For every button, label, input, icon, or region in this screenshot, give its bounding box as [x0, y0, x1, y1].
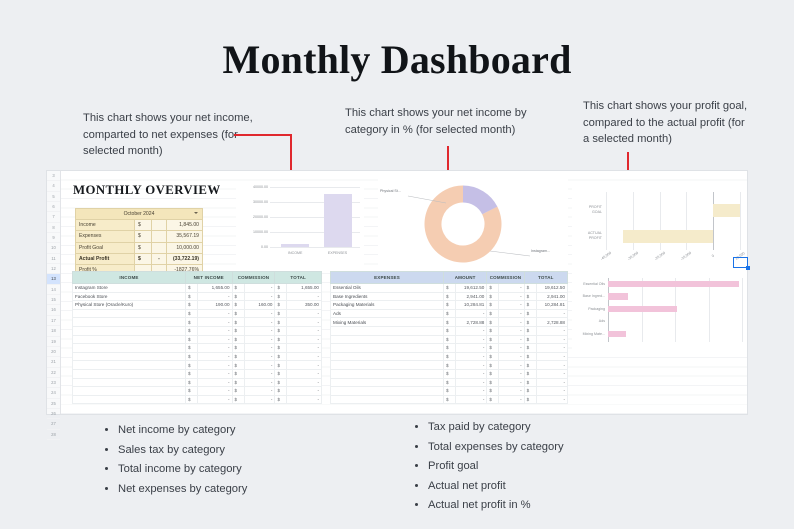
cell-value[interactable]: - — [198, 378, 233, 387]
cell-currency: $ — [232, 284, 244, 293]
cell-value[interactable]: - — [287, 335, 322, 344]
y-axis-category-label: Essential Oils — [572, 282, 605, 286]
x-axis-tick-label: INCOME — [275, 251, 315, 255]
cell-name[interactable]: Base Ingredients — [331, 292, 444, 301]
cell-value[interactable]: 10,284.81 — [536, 301, 567, 310]
cell-currency: $ — [186, 361, 198, 370]
cell-value[interactable]: - — [456, 369, 487, 378]
cell-value[interactable]: - — [499, 335, 524, 344]
cell-value[interactable]: - — [536, 352, 567, 361]
cell-value[interactable]: - — [244, 378, 275, 387]
gridline — [270, 187, 360, 188]
chart-profit-goal-vs-actual[interactable]: -40,000-30,000-20,000-10,000010,000PROFI… — [572, 186, 747, 270]
overview-label: Expenses — [76, 231, 135, 242]
list-item: Actual net profit in % — [428, 496, 564, 516]
cell-name[interactable]: Packaging Materials — [331, 301, 444, 310]
cell-value[interactable]: - — [499, 369, 524, 378]
active-cell-cursor[interactable] — [733, 257, 748, 268]
cell-currency: $ — [524, 318, 536, 327]
cell-currency: $ — [444, 352, 456, 361]
table-row[interactable]: $-$-$- — [331, 361, 568, 370]
cell-value[interactable]: - — [499, 352, 524, 361]
table-row[interactable]: $-$-$- — [331, 352, 568, 361]
bar-actual-profit[interactable] — [623, 230, 713, 243]
row-header-9[interactable]: 9 — [47, 233, 60, 243]
cell-value[interactable]: - — [536, 395, 567, 404]
row-header-27[interactable]: 27 — [47, 419, 60, 429]
cell-currency: $ — [444, 326, 456, 335]
cell-currency: $ — [186, 284, 198, 293]
cell-value[interactable]: 10,284.81 — [456, 301, 487, 310]
cell-value[interactable]: - — [198, 352, 233, 361]
table-row[interactable]: $-$-$- — [331, 344, 568, 353]
cell-currency: $ — [186, 301, 198, 310]
cell-value[interactable]: - — [536, 378, 567, 387]
cell-name[interactable] — [73, 309, 186, 318]
cell-value[interactable]: - — [536, 369, 567, 378]
cell-value[interactable]: - — [244, 318, 275, 327]
cell-value[interactable]: - — [198, 395, 233, 404]
cell-currency: $ — [487, 352, 499, 361]
month-selector-value[interactable]: October 2024 — [124, 211, 155, 217]
overview-row[interactable]: Income$1,845.00 — [76, 220, 203, 231]
cell-currency: $ — [524, 352, 536, 361]
column-header[interactable]: COMMISSION — [232, 272, 275, 284]
cell-value[interactable]: - — [244, 361, 275, 370]
row-header-5[interactable]: 5 — [47, 192, 60, 202]
cell-currency: $ — [186, 335, 198, 344]
cell-value[interactable]: - — [536, 361, 567, 370]
cell-value[interactable]: - — [499, 387, 524, 396]
y-axis-category-label: Base Ingred... — [572, 294, 605, 298]
cell-value[interactable]: 350.00 — [287, 301, 322, 310]
cell-value[interactable]: 19,612.50 — [536, 284, 567, 293]
cell-currency: $ — [275, 369, 287, 378]
section-title-monthly-overview: MONTHLY OVERVIEW — [73, 183, 221, 198]
cell-value[interactable]: - — [198, 387, 233, 396]
cell-currency: $ — [487, 378, 499, 387]
cell-value[interactable]: 1,655.00 — [287, 284, 322, 293]
bar-essential-oils[interactable] — [608, 281, 739, 287]
cell-value[interactable]: - — [287, 378, 322, 387]
table-row[interactable]: $-$-$- — [73, 369, 322, 378]
cell-value[interactable]: - — [499, 326, 524, 335]
cell-currency: $ — [524, 335, 536, 344]
cell-value[interactable]: - — [198, 344, 233, 353]
cell-value[interactable]: 2,728.88 — [456, 318, 487, 327]
cell-name[interactable] — [73, 378, 186, 387]
cell-value[interactable]: - — [499, 378, 524, 387]
list-item: Actual net profit — [428, 477, 564, 497]
cell-value[interactable]: - — [287, 352, 322, 361]
table-row[interactable]: Physical Store (Oracle/Kuro)$190.00$160.… — [73, 301, 322, 310]
cell-name[interactable] — [73, 387, 186, 396]
y-axis-category-label: Ads — [572, 319, 605, 323]
row-header-28[interactable]: 28 — [47, 430, 60, 440]
cell-value[interactable]: - — [536, 387, 567, 396]
overview-label: Actual Profit — [76, 253, 135, 264]
cell-name[interactable] — [331, 352, 444, 361]
row-header-17[interactable]: 17 — [47, 316, 60, 326]
annotation-net-income-by-category: This chart shows your net income by cate… — [345, 105, 550, 138]
cell-currency: $ — [232, 301, 244, 310]
cell-currency: $ — [186, 309, 198, 318]
cell-value[interactable]: - — [536, 309, 567, 318]
cell-value[interactable]: - — [287, 326, 322, 335]
row-header-4[interactable]: 4 — [47, 181, 60, 191]
table-header-row: INCOMENET INCOMECOMMISSIONTOTAL — [73, 272, 322, 284]
row-header-20[interactable]: 20 — [47, 347, 60, 357]
cell-currency: $ — [444, 301, 456, 310]
cell-currency: $ — [444, 344, 456, 353]
row-header-19[interactable]: 19 — [47, 337, 60, 347]
cell-name[interactable] — [331, 326, 444, 335]
cell-currency: $ — [444, 361, 456, 370]
cell-value[interactable]: - — [198, 309, 233, 318]
cell-value[interactable]: - — [287, 292, 322, 301]
gridline — [740, 192, 741, 250]
cell-value[interactable]: 1,655.00 — [198, 284, 233, 293]
cell-value[interactable]: - — [244, 352, 275, 361]
cell-currency: $ — [487, 292, 499, 301]
cell-value[interactable]: - — [244, 395, 275, 404]
bar-income[interactable] — [281, 244, 309, 247]
table-row[interactable]: $-$-$- — [331, 387, 568, 396]
cell-name[interactable] — [331, 335, 444, 344]
column-header[interactable]: TOTAL — [524, 272, 567, 284]
list-item: Profit goal — [428, 457, 564, 477]
row-header-8[interactable]: 8 — [47, 223, 60, 233]
cell-value[interactable]: - — [244, 292, 275, 301]
cell-name[interactable] — [331, 378, 444, 387]
table-row[interactable]: Ads$-$-$- — [331, 309, 568, 318]
y-axis-tick-label: 30000.00 — [238, 200, 268, 204]
row-header-24[interactable]: 24 — [47, 388, 60, 398]
cell-currency: $ — [232, 326, 244, 335]
cell-value[interactable]: - — [456, 309, 487, 318]
list-item: Tax paid by category — [428, 418, 564, 438]
cell-value[interactable]: - — [536, 344, 567, 353]
cell-name[interactable] — [73, 352, 186, 361]
cell-currency: $ — [524, 301, 536, 310]
table-row[interactable]: $-$-$- — [73, 378, 322, 387]
y-axis-tick-label: 20000.00 — [238, 215, 268, 219]
overview-row[interactable]: Profit Goal$10,000.00 — [76, 242, 203, 253]
cell-value[interactable]: - — [244, 387, 275, 396]
bar-mixing-mate-[interactable] — [608, 331, 626, 337]
chart-net-income-by-category[interactable]: Physical St... Instagram... — [378, 176, 568, 271]
row-header-25[interactable]: 25 — [47, 399, 60, 409]
cell-name[interactable]: Instagram Store — [73, 284, 186, 293]
row-header-12[interactable]: 12 — [47, 264, 60, 274]
cell-currency: $ — [444, 284, 456, 293]
cell-currency: $ — [487, 335, 499, 344]
column-header[interactable]: COMMISSION — [487, 272, 524, 284]
cell-value[interactable]: - — [456, 361, 487, 370]
cell-value[interactable]: - — [244, 326, 275, 335]
cell-currency: $ — [275, 387, 287, 396]
feature-list-right: Tax paid by categoryTotal expenses by ca… — [414, 418, 564, 516]
income-table[interactable]: INCOMENET INCOMECOMMISSIONTOTALInstagram… — [72, 271, 322, 404]
cell-value[interactable]: 19,612.50 — [456, 284, 487, 293]
row-header-6[interactable]: 6 — [47, 202, 60, 212]
cell-currency: $ — [524, 326, 536, 335]
list-item: Net income by category — [118, 421, 247, 441]
chart-expenses-by-category[interactable]: Essential OilsBase Ingred...PackagingAds… — [572, 272, 747, 352]
cell-value[interactable]: 2,941.00 — [456, 292, 487, 301]
column-header[interactable]: INCOME — [73, 272, 186, 284]
table-row[interactable]: Essential Oils$19,612.50$-$19,612.50 — [331, 284, 568, 293]
cell-currency: $ — [232, 309, 244, 318]
cell-name[interactable]: Mixing Materials — [331, 318, 444, 327]
cell-value[interactable]: - — [244, 284, 275, 293]
overview-value: 10,000.00 — [167, 242, 203, 253]
cell-currency: $ — [524, 344, 536, 353]
bar-packaging[interactable] — [608, 306, 677, 312]
row-header-21[interactable]: 21 — [47, 357, 60, 367]
cell-name[interactable] — [73, 395, 186, 404]
table-row[interactable]: $-$-$- — [73, 318, 322, 327]
cell-value[interactable]: - — [456, 344, 487, 353]
cell-value[interactable]: - — [536, 335, 567, 344]
cell-name[interactable] — [331, 395, 444, 404]
cell-value[interactable]: - — [499, 284, 524, 293]
cell-value[interactable]: - — [456, 335, 487, 344]
cell-currency: $ — [232, 387, 244, 396]
gridline — [742, 278, 743, 342]
cell-currency: $ — [275, 395, 287, 404]
row-header-7[interactable]: 7 — [47, 212, 60, 222]
cell-value[interactable]: - — [499, 344, 524, 353]
chart-income-vs-expenses[interactable]: 0.0010000.0020000.0030000.0040000.00INCO… — [236, 181, 364, 267]
donut-label-instagram: Instagram... — [531, 249, 550, 253]
table-header-row: EXPENSESAMOUNTCOMMISSIONTOTAL — [331, 272, 568, 284]
cell-name[interactable]: Physical Store (Oracle/Kuro) — [73, 301, 186, 310]
cell-name[interactable] — [331, 344, 444, 353]
cell-value[interactable]: - — [499, 292, 524, 301]
row-header-26[interactable]: 26 — [47, 409, 60, 419]
donut-leader-right — [490, 251, 530, 256]
y-axis-category-label: PROFITGOAL — [572, 205, 602, 214]
cell-currency: $ — [275, 309, 287, 318]
cell-name[interactable] — [73, 335, 186, 344]
cell-currency: $ — [487, 387, 499, 396]
cell-value[interactable]: - — [287, 369, 322, 378]
column-header[interactable]: AMOUNT — [444, 272, 487, 284]
table-row[interactable]: Packaging Materials$10,284.81$-$10,284.8… — [331, 301, 568, 310]
y-axis-tick-label: 0.00 — [238, 245, 268, 249]
table-row[interactable]: $-$-$- — [73, 361, 322, 370]
cell-currency: $ — [487, 369, 499, 378]
y-axis-category-label: Packaging — [572, 307, 605, 311]
cell-name[interactable]: Ads — [331, 309, 444, 318]
cell-currency: $ — [186, 387, 198, 396]
cell-currency: $ — [444, 335, 456, 344]
cell-currency: $ — [232, 361, 244, 370]
overview-sign — [152, 231, 167, 242]
cell-value[interactable]: - — [198, 292, 233, 301]
overview-currency: $ — [135, 242, 152, 253]
table-row[interactable]: Base Ingredients$2,941.00$-$2,941.00 — [331, 292, 568, 301]
cell-value[interactable]: - — [198, 335, 233, 344]
row-header-13[interactable]: 13 — [47, 274, 60, 284]
row-header-23[interactable]: 23 — [47, 378, 60, 388]
cell-currency: $ — [524, 292, 536, 301]
table-row[interactable]: Mixing Materials$2,728.88$-$2,728.88 — [331, 318, 568, 327]
bar-profit-goal[interactable] — [713, 204, 740, 217]
table-row[interactable]: $-$-$- — [331, 395, 568, 404]
cell-value[interactable]: - — [287, 395, 322, 404]
cell-value[interactable]: 160.00 — [244, 301, 275, 310]
row-header-gutter[interactable]: 3456789101112131415161718192021222324252… — [47, 171, 61, 414]
cell-name[interactable] — [73, 369, 186, 378]
row-header-3[interactable]: 3 — [47, 171, 60, 181]
cell-value[interactable]: - — [287, 387, 322, 396]
bar-expenses[interactable] — [324, 194, 352, 247]
cell-name[interactable]: Essential Oils — [331, 284, 444, 293]
cell-name[interactable] — [331, 369, 444, 378]
table-row[interactable]: $-$-$- — [73, 387, 322, 396]
row-header-22[interactable]: 22 — [47, 368, 60, 378]
cell-currency: $ — [186, 352, 198, 361]
x-axis-tick-label: EXPENSES — [318, 251, 358, 255]
cell-name[interactable]: Facebook Store — [73, 292, 186, 301]
cell-value[interactable]: - — [456, 378, 487, 387]
column-header[interactable]: EXPENSES — [331, 272, 444, 284]
list-item: Total expenses by category — [428, 438, 564, 458]
cell-currency: $ — [444, 387, 456, 396]
cell-value[interactable]: - — [456, 352, 487, 361]
table-row[interactable]: Facebook Store$-$-$- — [73, 292, 322, 301]
table-row[interactable]: $-$-$- — [331, 326, 568, 335]
table-row[interactable]: $-$-$- — [73, 344, 322, 353]
month-selector-row[interactable]: October 2024 — [76, 209, 203, 220]
cell-name[interactable] — [73, 344, 186, 353]
cell-currency: $ — [487, 326, 499, 335]
cell-currency: $ — [232, 335, 244, 344]
cell-currency: $ — [275, 335, 287, 344]
cell-value[interactable]: - — [287, 309, 322, 318]
cell-value[interactable]: - — [456, 387, 487, 396]
cell-value[interactable]: 190.00 — [198, 301, 233, 310]
row-header-18[interactable]: 18 — [47, 326, 60, 336]
cell-name[interactable] — [73, 361, 186, 370]
row-header-10[interactable]: 10 — [47, 243, 60, 253]
cell-value[interactable]: 2,728.88 — [536, 318, 567, 327]
cell-currency: $ — [487, 395, 499, 404]
cell-value[interactable]: - — [244, 335, 275, 344]
overview-currency: $ — [135, 231, 152, 242]
overview-sign — [152, 242, 167, 253]
overview-row[interactable]: Actual Profit$-(33,722.19) — [76, 253, 203, 264]
table-row[interactable]: $-$-$- — [73, 335, 322, 344]
cell-value[interactable]: - — [244, 309, 275, 318]
row-header-16[interactable]: 16 — [47, 305, 60, 315]
cell-currency: $ — [524, 284, 536, 293]
row-header-14[interactable]: 14 — [47, 285, 60, 295]
overview-row[interactable]: Expenses$35,567.19 — [76, 231, 203, 242]
table-row[interactable]: $-$-$- — [331, 378, 568, 387]
cell-value[interactable]: - — [198, 326, 233, 335]
cell-currency: $ — [186, 318, 198, 327]
cell-currency: $ — [275, 284, 287, 293]
cell-currency: $ — [275, 326, 287, 335]
table-row[interactable]: $-$-$- — [73, 326, 322, 335]
cell-name[interactable] — [73, 318, 186, 327]
table-row[interactable]: $-$-$- — [331, 335, 568, 344]
gridline — [713, 192, 714, 250]
cell-name[interactable] — [331, 361, 444, 370]
cell-value[interactable]: - — [499, 395, 524, 404]
cell-currency: $ — [232, 318, 244, 327]
row-header-15[interactable]: 15 — [47, 295, 60, 305]
overview-sign: - — [152, 253, 167, 264]
cell-value[interactable]: - — [287, 344, 322, 353]
bar-base-ingred-[interactable] — [608, 293, 628, 299]
cell-value[interactable]: 2,941.00 — [536, 292, 567, 301]
column-header[interactable]: TOTAL — [275, 272, 322, 284]
cell-currency: $ — [444, 378, 456, 387]
cell-currency: $ — [275, 292, 287, 301]
cell-value[interactable]: - — [198, 369, 233, 378]
cell-name[interactable] — [331, 387, 444, 396]
overview-value: (33,722.19) — [167, 253, 203, 264]
cell-value[interactable]: - — [536, 326, 567, 335]
cell-value[interactable]: - — [198, 318, 233, 327]
overview-currency: $ — [135, 253, 152, 264]
table-row[interactable]: $-$-$- — [73, 309, 322, 318]
cell-name[interactable] — [73, 326, 186, 335]
gridline — [709, 278, 710, 342]
cell-value[interactable]: - — [499, 361, 524, 370]
cell-currency: $ — [275, 378, 287, 387]
page-title: Monthly Dashboard — [0, 36, 794, 83]
table-row[interactable]: $-$-$- — [331, 369, 568, 378]
cell-currency: $ — [524, 395, 536, 404]
cell-value[interactable]: - — [499, 309, 524, 318]
gridline — [270, 247, 360, 248]
table-row[interactable]: $-$-$- — [73, 352, 322, 361]
expenses-table[interactable]: EXPENSESAMOUNTCOMMISSIONTOTALEssential O… — [330, 271, 568, 404]
table-row[interactable]: $-$-$- — [73, 395, 322, 404]
cell-value[interactable]: - — [244, 369, 275, 378]
list-item: Total income by category — [118, 460, 247, 480]
cell-value[interactable]: - — [287, 361, 322, 370]
cell-currency: $ — [186, 369, 198, 378]
cell-currency: $ — [232, 352, 244, 361]
cell-value[interactable]: - — [198, 361, 233, 370]
column-header[interactable]: NET INCOME — [186, 272, 233, 284]
cell-currency: $ — [444, 318, 456, 327]
cell-currency: $ — [232, 344, 244, 353]
cell-value[interactable]: - — [456, 326, 487, 335]
cell-value[interactable]: - — [499, 318, 524, 327]
cell-currency: $ — [275, 344, 287, 353]
cell-value[interactable]: - — [499, 301, 524, 310]
cell-value[interactable]: - — [456, 395, 487, 404]
monthly-overview-table[interactable]: October 2024 Income$1,845.00Expenses$35,… — [75, 208, 203, 276]
cell-value[interactable]: - — [287, 318, 322, 327]
cell-currency: $ — [524, 387, 536, 396]
row-header-11[interactable]: 11 — [47, 254, 60, 264]
cell-currency: $ — [275, 301, 287, 310]
overview-label: Income — [76, 220, 135, 231]
overview-currency: $ — [135, 220, 152, 231]
chevron-down-icon[interactable] — [194, 212, 198, 214]
cell-value[interactable]: - — [244, 344, 275, 353]
table-row[interactable]: Instagram Store$1,655.00$-$1,655.00 — [73, 284, 322, 293]
cell-currency: $ — [186, 326, 198, 335]
